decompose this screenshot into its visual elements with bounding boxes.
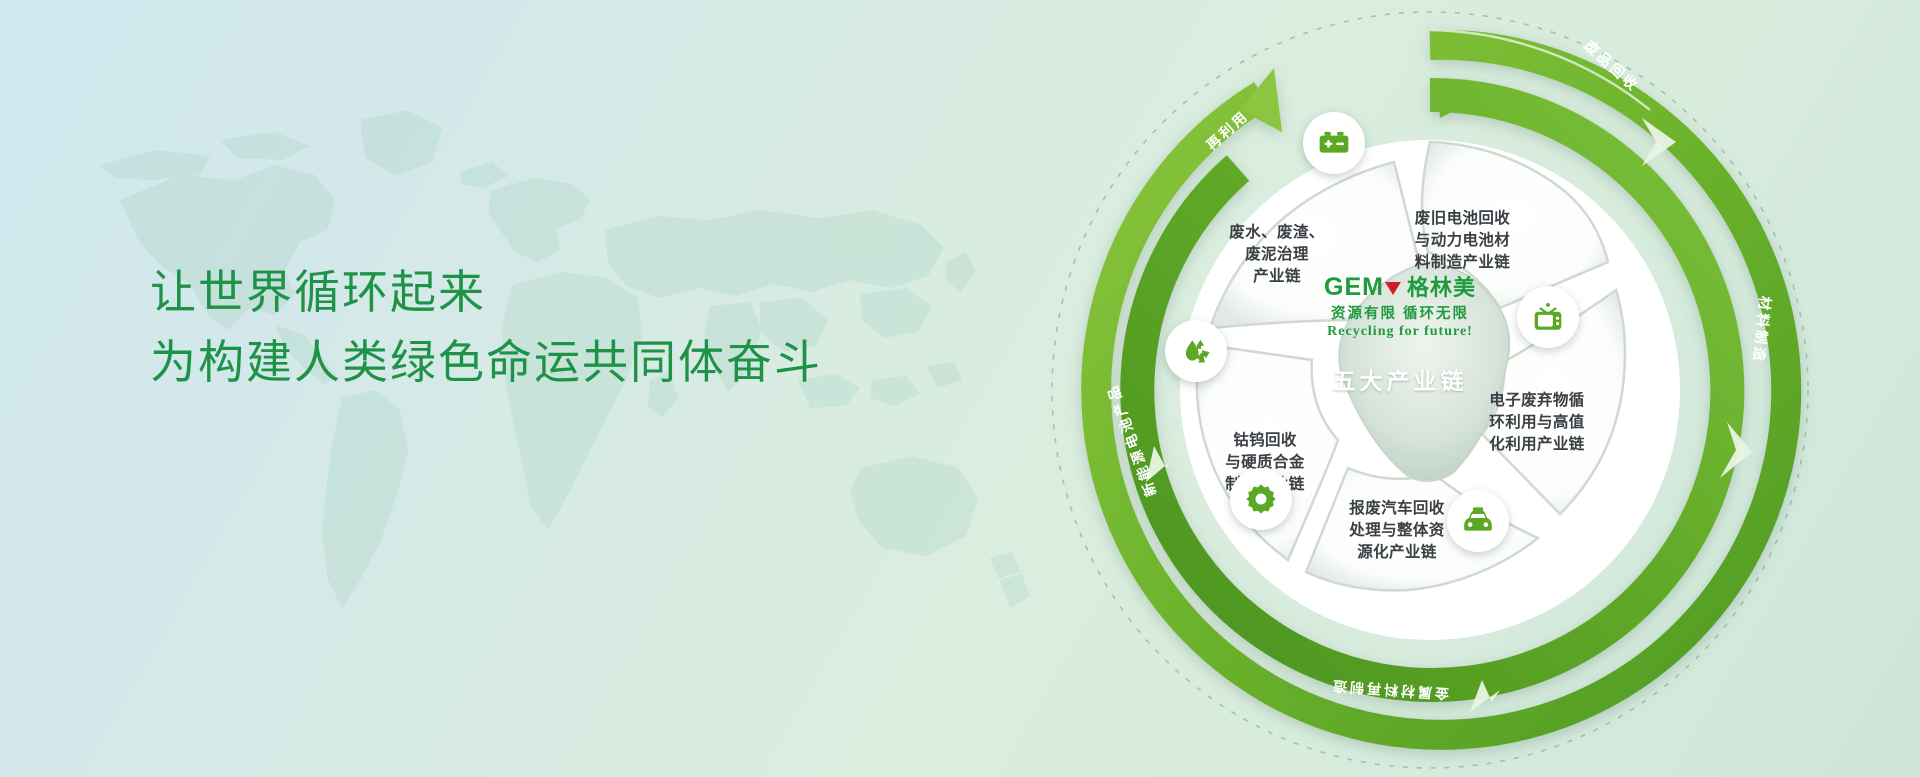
icon-bubble-battery [1303,112,1365,174]
recycle-water-icon [1179,334,1213,368]
headline-line-1: 让世界循环起来 [150,258,822,328]
segment-label-e-waste: 电子废弃物循 环利用与高值 化利用产业链 [1448,390,1626,456]
headline-line-2: 为构建人类绿色命运共同体奋斗 [150,328,822,398]
icon-bubble-television [1517,286,1579,348]
green-recycling-banner: 让世界循环起来 为构建人类绿色命运共同体奋斗 [0,0,1920,777]
icon-bubble-car [1447,490,1509,552]
five-industry-chain-diagram: GEM 格林美 资源有限 循环无限 Recycling for future! … [1030,0,1830,777]
segment-label-battery: 废旧电池回收 与动力电池材 料制造产业链 [1375,208,1550,274]
world-map-watermark [60,80,1060,720]
car-icon [1461,504,1495,538]
icon-bubble-recycle-water [1165,320,1227,382]
icon-bubble-gear [1230,468,1292,530]
battery-icon [1317,126,1351,160]
gear-icon [1244,482,1278,516]
television-icon [1531,300,1565,334]
segment-label-waste-water: 废水、废渣、 废泥治理 产业链 [1193,222,1361,288]
headline: 让世界循环起来 为构建人类绿色命运共同体奋斗 [150,258,822,398]
